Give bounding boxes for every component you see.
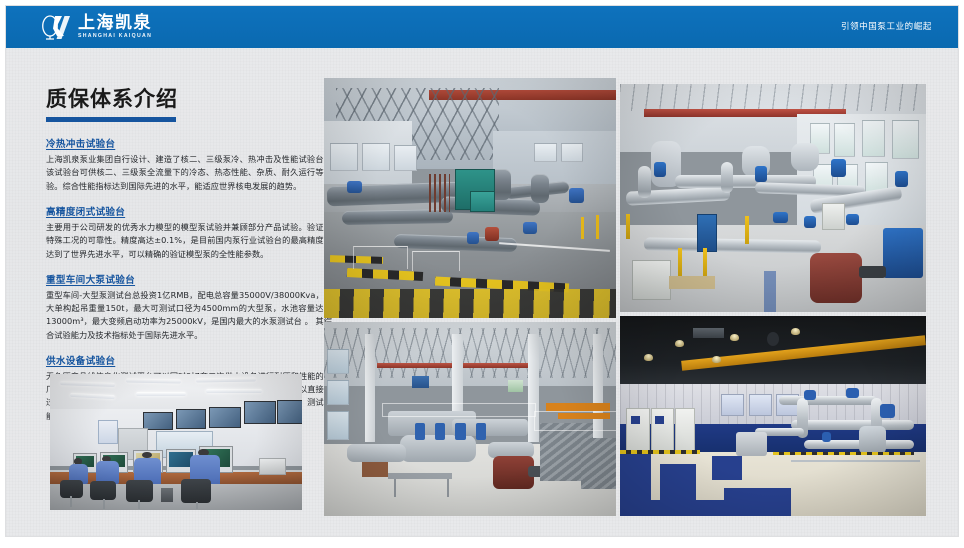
section-cold-hot-shock: 冷热冲击试验台 上海凯泉泵业集团自行设计、建造了核二、三级泵冷、热冲击及性能试验… (46, 136, 332, 193)
section-body: 主要用于公司研发的优秀水力模型的模型泵试验并兼顾部分产品试验。验证其特殊工况的可… (46, 221, 332, 261)
photo-scene (324, 322, 616, 516)
section-heading: 冷热冲击试验台 (46, 136, 332, 150)
brand-text: 上海凯泉 SHANGHAI KAIQUAN (78, 15, 152, 40)
page-title: 质保体系介绍 (46, 88, 332, 111)
kaiquan-mark-icon (40, 13, 71, 41)
brand-name-en: SHANGHAI KAIQUAN (78, 34, 152, 39)
slide-root: 上海凯泉 SHANGHAI KAIQUAN 引领中国泵工业的崛起 质保体系介绍 … (0, 0, 964, 548)
page-canvas: 上海凯泉 SHANGHAI KAIQUAN 引领中国泵工业的崛起 质保体系介绍 … (6, 6, 958, 536)
photo-scene (324, 78, 616, 318)
section-heavy-workshop-bench: 重型车间大泵试验台 重型车间-大型泵测试台总投资1亿RMB，配电总容量35000… (46, 272, 332, 342)
photo-scene (50, 374, 302, 510)
photo-blue-floor-lab (620, 316, 926, 516)
title-underline-rule (46, 117, 176, 122)
section-heading: 重型车间大泵试验台 (46, 272, 332, 286)
photo-bright-pump-lab (620, 84, 926, 312)
section-body: 重型车间-大型泵测试台总投资1亿RMB，配电总容量35000V/38000Kva… (46, 289, 332, 342)
header-bar: 上海凯泉 SHANGHAI KAIQUAN 引领中国泵工业的崛起 (6, 6, 958, 48)
header-slogan: 引领中国泵工业的崛起 (841, 6, 932, 48)
photo-wide-workshop (324, 322, 616, 516)
section-heading: 高精度闭式试验台 (46, 204, 332, 218)
photo-control-room (50, 374, 302, 510)
section-closed-loop-bench: 高精度闭式试验台 主要用于公司研发的优秀水力模型的模型泵试验并兼顾部分产品试验。… (46, 204, 332, 261)
photo-large-pump-hall (324, 78, 616, 318)
section-heading: 供水设备试验台 (46, 353, 332, 367)
section-body: 上海凯泉泵业集团自行设计、建造了核二、三级泵冷、热冲击及性能试验台。该试验台可供… (46, 153, 332, 193)
photo-scene (620, 84, 926, 312)
photo-scene (620, 316, 926, 516)
brand-logo[interactable]: 上海凯泉 SHANGHAI KAIQUAN (40, 13, 152, 41)
brand-name-cn: 上海凯泉 (78, 15, 152, 32)
